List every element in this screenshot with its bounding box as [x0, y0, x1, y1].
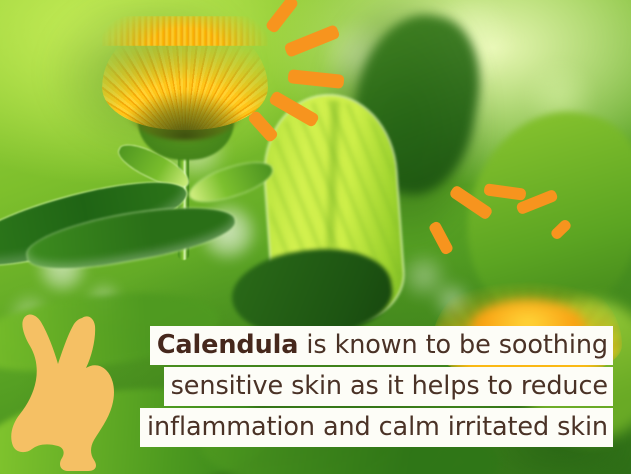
caption-line-2: sensitive skin as it helps to reduce — [164, 367, 613, 406]
caption-line-1: Calendula is known to be soothing — [150, 326, 613, 365]
caption-line-3: inflammation and calm irritated skin — [140, 408, 613, 447]
flower-petal-tips — [102, 16, 268, 46]
caption-keyword: Calendula — [157, 330, 299, 360]
green-leaf — [186, 155, 276, 208]
caption-block: Calendula is known to be soothing sensit… — [0, 326, 631, 446]
caption-line-1-rest: is known to be soothing — [298, 330, 608, 360]
image-canvas: Calendula is known to be soothing sensit… — [0, 0, 631, 474]
